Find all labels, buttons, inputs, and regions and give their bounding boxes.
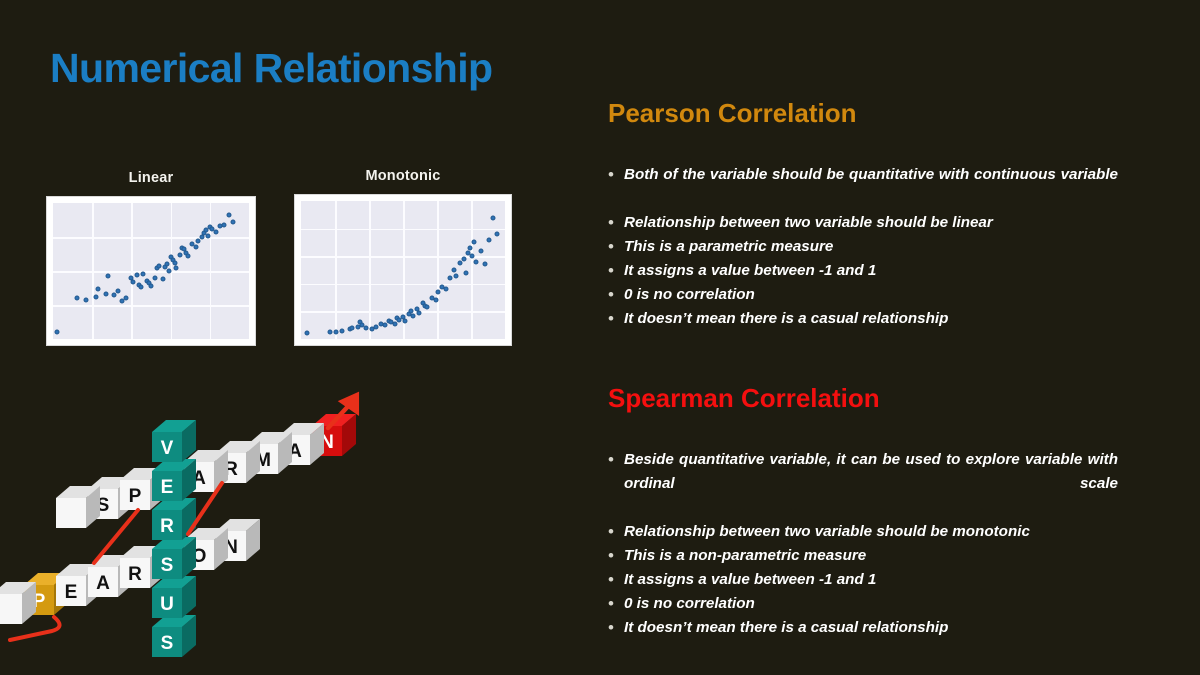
scatter-point: [135, 273, 140, 278]
bullet-item: •It doesn’t mean there is a casual relat…: [608, 307, 1118, 331]
bullet-marker-icon: •: [608, 211, 624, 235]
scatter-point: [433, 298, 438, 303]
scatter-point: [111, 293, 116, 298]
bullet-item: •Both of the variable should be quantita…: [608, 163, 1118, 211]
scatter-point: [452, 268, 457, 273]
block-letter: A: [96, 573, 110, 594]
bullet-marker-icon: •: [608, 283, 624, 307]
bullet-text: It doesn’t mean there is a casual relati…: [624, 307, 1118, 331]
section-heading-spearman: Spearman Correlation: [608, 383, 880, 414]
block-letter: E: [65, 582, 78, 603]
scatter-point: [94, 294, 99, 299]
bullet-item: •0 is no correlation: [608, 592, 1118, 616]
scatter-point: [174, 266, 179, 271]
scatter-point: [392, 321, 397, 326]
bullet-marker-icon: •: [608, 520, 624, 544]
scatter-point: [139, 285, 144, 290]
scatter-point: [186, 254, 191, 259]
scatter-point: [221, 222, 226, 227]
bullet-item: •This is a non-parametric measure: [608, 544, 1118, 568]
bullet-list-pearson: •Both of the variable should be quantita…: [608, 163, 1118, 331]
scatter-point: [327, 330, 332, 335]
scatter-point: [474, 259, 479, 264]
chart-linear-caption: Linear: [46, 170, 256, 186]
scatter-point: [172, 260, 177, 265]
bullet-text: This is a parametric measure: [624, 235, 1118, 259]
block-letter: S: [161, 633, 174, 654]
scatter-point: [141, 271, 146, 276]
scatter-point: [115, 289, 120, 294]
slide-root: Numerical Relationship Linear Monotonic …: [0, 0, 1200, 675]
bullet-text: This is a non-parametric measure: [624, 544, 1118, 568]
bullet-marker-icon: •: [608, 592, 624, 616]
scatter-point: [333, 330, 338, 335]
block-front-face: [0, 594, 22, 624]
scatter-point: [454, 273, 459, 278]
bullet-text: Relationship between two variable should…: [624, 520, 1118, 544]
bullet-marker-icon: •: [608, 616, 624, 640]
page-title: Numerical Relationship: [50, 45, 492, 92]
block-letter: S: [161, 555, 174, 576]
scatter-point: [196, 239, 201, 244]
gridline-vertical: [437, 201, 439, 339]
chart-monotonic: Monotonic: [294, 168, 512, 346]
bullet-text: It assigns a value between -1 and 1: [624, 259, 1118, 283]
block-letter: R: [128, 564, 142, 585]
scatter-point: [458, 261, 463, 266]
chart-monotonic-caption: Monotonic: [294, 168, 512, 184]
scatter-point: [468, 245, 473, 250]
scatter-point: [447, 276, 452, 281]
chart-monotonic-frame: [294, 194, 512, 346]
scatter-point: [382, 323, 387, 328]
block-letter: E: [161, 477, 174, 498]
bullet-text: It doesn’t mean there is a casual relati…: [624, 616, 1118, 640]
block-letter: V: [161, 438, 174, 459]
scatter-point: [194, 244, 199, 249]
chart-linear-frame: [46, 196, 256, 346]
bullet-list-spearman: •Beside quantitative variable, it can be…: [608, 448, 1118, 640]
scatter-point: [231, 220, 236, 225]
bullet-text: Relationship between two variable should…: [624, 211, 1118, 235]
gridline-vertical: [369, 201, 371, 339]
gridline-horizontal: [53, 305, 249, 307]
bullet-text: Both of the variable should be quantitat…: [624, 163, 1118, 211]
scatter-point: [178, 252, 183, 257]
bullet-item: •It assigns a value between -1 and 1: [608, 259, 1118, 283]
gridline-horizontal: [53, 271, 249, 273]
bullet-item: •Beside quantitative variable, it can be…: [608, 448, 1118, 520]
chart-monotonic-plot: [301, 201, 505, 339]
scatter-point: [494, 232, 499, 237]
scatter-point: [96, 286, 101, 291]
scatter-point: [339, 328, 344, 333]
bullet-item: •This is a parametric measure: [608, 235, 1118, 259]
bullet-marker-icon: •: [608, 448, 624, 472]
gridline-horizontal: [301, 229, 505, 231]
scatter-point: [54, 330, 59, 335]
chart-linear: Linear: [46, 170, 256, 346]
block-letter: U: [160, 594, 174, 615]
crossword-svg: NAMRASPNOPEARSUSREV: [0, 380, 400, 675]
block-letter: R: [160, 516, 174, 537]
scatter-point: [425, 305, 430, 310]
bullet-item: •It doesn’t mean there is a casual relat…: [608, 616, 1118, 640]
scatter-point: [486, 237, 491, 242]
bullet-item: •Relationship between two variable shoul…: [608, 520, 1118, 544]
block-letter: P: [129, 486, 142, 507]
scatter-point: [74, 296, 79, 301]
scatter-point: [478, 248, 483, 253]
bullet-marker-icon: •: [608, 259, 624, 283]
bullet-item: •0 is no correlation: [608, 283, 1118, 307]
scatter-point: [417, 310, 422, 315]
bullet-marker-icon: •: [608, 307, 624, 331]
gridline-horizontal: [53, 237, 249, 239]
scatter-point: [156, 263, 161, 268]
scatter-point: [105, 274, 110, 279]
scatter-point: [131, 279, 136, 284]
scatter-point: [152, 275, 157, 280]
bullet-text: 0 is no correlation: [624, 592, 1118, 616]
scatter-point: [482, 262, 487, 267]
scatter-point: [403, 319, 408, 324]
gridline-vertical: [335, 201, 337, 339]
scatter-point: [470, 254, 475, 259]
gridline-horizontal: [301, 311, 505, 313]
scatter-point: [462, 256, 467, 261]
scatter-point: [350, 325, 355, 330]
scatter-point: [464, 270, 469, 275]
scatter-point: [166, 269, 171, 274]
bullet-text: 0 is no correlation: [624, 283, 1118, 307]
scatter-point: [103, 292, 108, 297]
block-front-face: [56, 498, 86, 528]
scatter-point: [443, 287, 448, 292]
scatter-point: [164, 262, 169, 267]
bullet-marker-icon: •: [608, 568, 624, 592]
bullet-item: •It assigns a value between -1 and 1: [608, 568, 1118, 592]
scatter-point: [84, 297, 89, 302]
bullet-text: It assigns a value between -1 and 1: [624, 568, 1118, 592]
scatter-point: [411, 313, 416, 318]
crossword-illustration: NAMRASPNOPEARSUSREV: [0, 380, 400, 675]
scatter-point: [472, 240, 477, 245]
scatter-point: [160, 277, 165, 282]
gridline-horizontal: [301, 284, 505, 286]
bullet-marker-icon: •: [608, 235, 624, 259]
bullet-marker-icon: •: [608, 544, 624, 568]
scatter-point: [227, 213, 232, 218]
scatter-point: [364, 325, 369, 330]
bullet-text: Beside quantitative variable, it can be …: [624, 448, 1118, 520]
bullet-marker-icon: •: [608, 163, 624, 187]
scatter-point: [213, 229, 218, 234]
scatter-point: [490, 215, 495, 220]
scatter-point: [123, 296, 128, 301]
bullet-item: •Relationship between two variable shoul…: [608, 211, 1118, 235]
scatter-point: [305, 331, 310, 336]
gridline-vertical: [471, 201, 473, 339]
chart-linear-plot: [53, 203, 249, 339]
section-heading-pearson: Pearson Correlation: [608, 98, 857, 129]
scatter-point: [435, 290, 440, 295]
scatter-point: [149, 283, 154, 288]
scatter-point: [205, 233, 210, 238]
